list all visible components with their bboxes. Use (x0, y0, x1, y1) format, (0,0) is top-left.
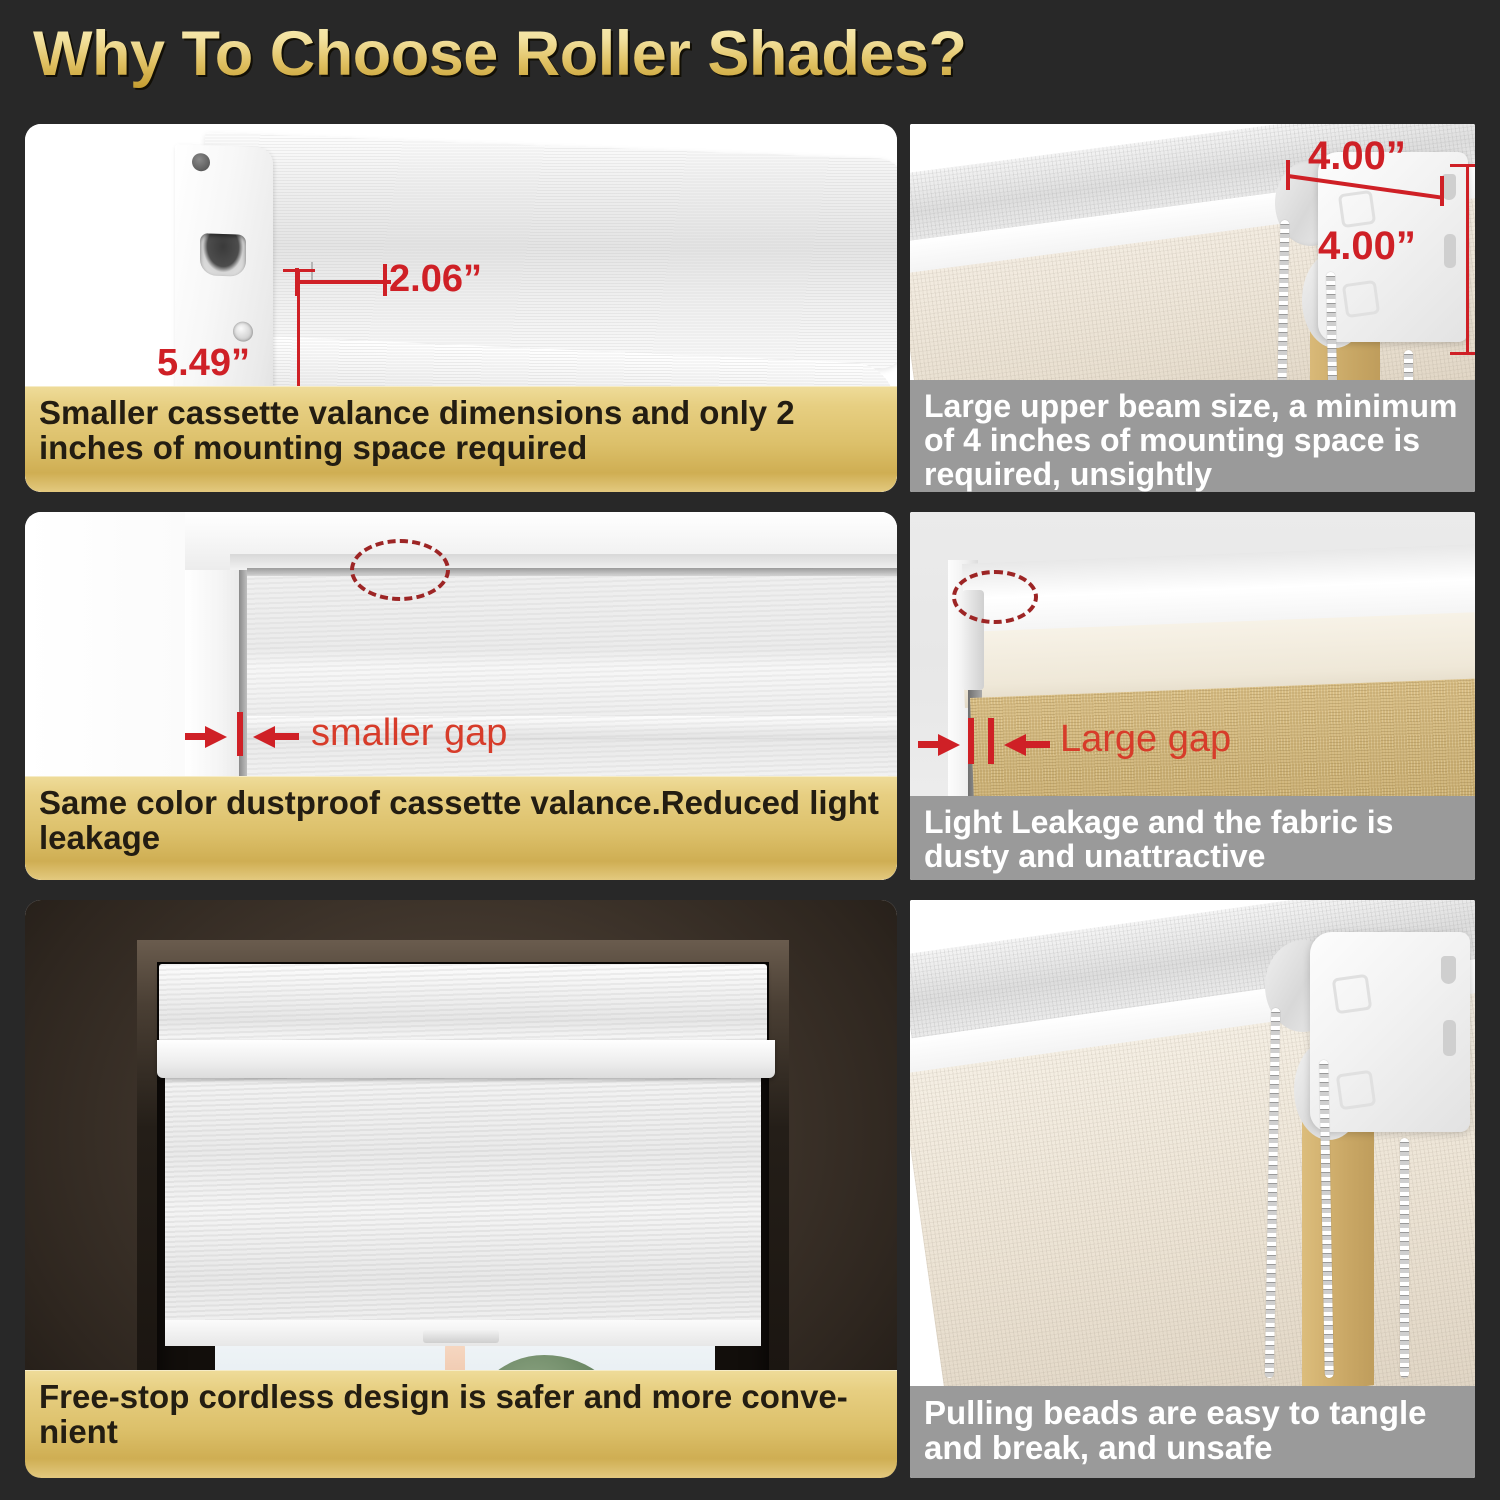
panel-3-caption: Same color dustproof cassette valance.Re… (25, 776, 897, 880)
cassette-body-illustration (205, 133, 897, 370)
bracket-embossing-upper (1338, 190, 1376, 228)
gap-arrow-right-shaft (1024, 741, 1050, 748)
panel-large-upper-beam: 4.00” 4.00” Large upper beam size, a min… (910, 124, 1475, 492)
gap-marker-bar-a (968, 718, 974, 764)
page-title: Why To Choose Roller Shades? (33, 18, 966, 90)
bracket-embossing-lower (1336, 1070, 1377, 1111)
gap-arrow-left-shaft (185, 733, 209, 740)
shade-pull-tab (423, 1330, 499, 1343)
width-dim-line (297, 280, 391, 284)
shade-cassette-lip (157, 1040, 775, 1078)
bracket-embossing-upper (1332, 974, 1373, 1015)
bracket-notch-lower (1444, 234, 1456, 268)
top-dim-tick-left (1286, 160, 1290, 190)
side-dimension-label: 4.00” (1318, 224, 1416, 269)
panel-5-caption: Free-stop cordless design is safer and m… (25, 1370, 897, 1478)
highlight-ellipse-gap-icon (350, 539, 450, 601)
panel-1-caption: Smaller cassette valance dimensions and … (25, 386, 897, 492)
height-dimension-label: 5.49” (157, 342, 250, 385)
end-cap-screw-top-icon (192, 153, 210, 172)
panel-pulling-beads: Pulling beads are easy to tangle and bre… (910, 900, 1475, 1478)
large-gap-label: Large gap (1060, 718, 1231, 761)
infographic-page: Why To Choose Roller Shades? Why To Choo… (0, 0, 1500, 1500)
gap-marker-bar-b (988, 718, 994, 764)
end-cap-screw-icon (233, 321, 253, 342)
height-dim-tick-top (283, 269, 315, 272)
width-dim-tick-right (383, 264, 387, 296)
panel-cordless-design: Free-stop cordless design is safer and m… (25, 900, 897, 1478)
gap-arrow-left-shaft (918, 741, 942, 748)
panel-4-caption: Light Leakage and the fabric is dusty an… (910, 796, 1475, 880)
shade-cassette-head (159, 964, 767, 1042)
panel-light-leakage: Large gap Light Leakage and the fabric i… (910, 512, 1475, 880)
gap-arrow-right-icon (1004, 734, 1026, 756)
gap-arrow-right-shaft (273, 733, 299, 740)
width-dimension-label: 2.06” (389, 258, 482, 301)
end-cap-slot-icon (200, 233, 246, 277)
bead-chain-right (1400, 1138, 1409, 1378)
mounting-bracket (1310, 932, 1470, 1132)
side-dim-tick-bottom (1450, 352, 1475, 355)
panel-dustproof-valance: smaller gap Same color dustproof cassett… (25, 512, 897, 880)
shade-fabric (165, 1076, 761, 1334)
panel-smaller-cassette: 2.06” 5.49” Smaller cassette valance dim… (25, 124, 897, 492)
bracket-notch-upper (1442, 174, 1456, 200)
smaller-gap-label: smaller gap (311, 712, 507, 755)
top-dim-tick-right (1440, 176, 1444, 206)
gap-marker-bar (237, 712, 243, 756)
bracket-embossing-lower (1342, 280, 1380, 318)
panel-2-caption: Large upper beam size, a minimum of 4 in… (910, 380, 1475, 492)
shade-top-rail (247, 568, 897, 576)
tan-backing-fabric (1302, 1095, 1374, 1395)
panel-6-caption: Pulling beads are easy to tangle and bre… (910, 1386, 1475, 1478)
side-dim-tick-top (1450, 164, 1475, 167)
bracket-notch-upper (1441, 956, 1456, 984)
top-dimension-label: 4.00” (1308, 134, 1406, 179)
side-dim-line (1466, 164, 1469, 354)
highlight-ellipse-icon (952, 570, 1038, 624)
gap-arrow-right-icon (253, 726, 275, 748)
bracket-notch-lower (1443, 1020, 1456, 1056)
